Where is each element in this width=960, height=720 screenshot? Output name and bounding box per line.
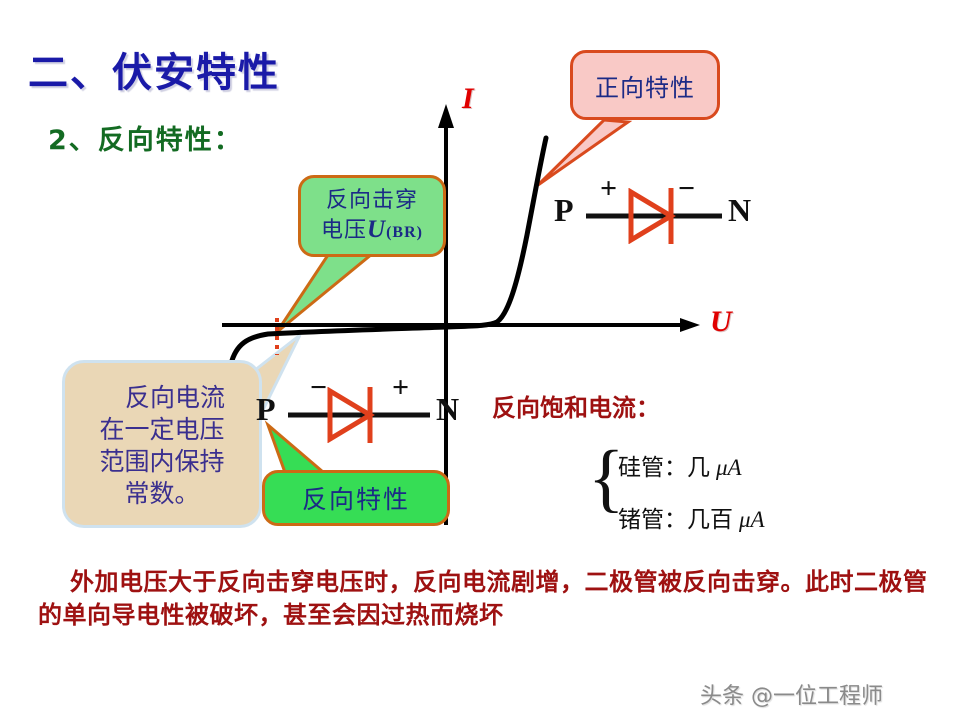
callout-breakdown-line1: 反向击穿: [326, 187, 418, 215]
callout-reverse-current-line-4: 常数。: [124, 478, 199, 510]
reverse-saturation-title: 反向饱和电流：: [492, 388, 660, 423]
axis-label-current: I: [462, 82, 474, 116]
callout-breakdown-voltage[interactable]: 反向击穿 电压U(BR): [298, 175, 446, 257]
diode-forward-cathode-label: N: [728, 192, 751, 229]
silicon-unit: μA: [710, 455, 742, 480]
callout-forward-characteristic[interactable]: 正向特性: [570, 50, 720, 120]
u-axis-arrow: [680, 318, 700, 332]
callout-reverse-current-line-2: 在一定电压: [99, 414, 224, 446]
callout-breakdown-subscript: (BR): [386, 224, 423, 241]
germanium-label: 锗管：几百: [618, 507, 733, 533]
callout-breakdown-symbol: U: [367, 216, 386, 243]
callout-tail-breakdown: [277, 252, 372, 332]
diode-forward-anode-label: P: [554, 192, 574, 229]
callout-reverse-current[interactable]: 反向电流 在一定电压 范围内保持 常数。: [62, 360, 262, 528]
watermark: 头条 @一位工程师: [700, 678, 883, 710]
diode-forward-glyph: [586, 188, 722, 244]
callout-reverse-characteristic-label: 反向特性: [302, 480, 410, 516]
callout-forward-label: 正向特性: [595, 68, 695, 103]
silicon-label: 硅管：几: [618, 455, 710, 481]
diode-reverse-cathode-label: N: [436, 391, 459, 428]
reverse-saturation-row-germanium: 锗管：几百μA: [618, 500, 765, 534]
reverse-saturation-row-silicon: 硅管：几μA: [618, 448, 742, 482]
axis-label-voltage: U: [710, 305, 732, 339]
diode-reverse-anode-label: P: [256, 391, 276, 428]
callout-breakdown-line2: 电压U(BR): [321, 214, 423, 245]
i-axis-arrow: [438, 104, 454, 128]
callout-breakdown-prefix: 电压: [321, 218, 367, 243]
callout-reverse-current-line-3: 范围内保持: [99, 446, 224, 478]
diode-reverse-glyph: [288, 387, 430, 443]
diode-symbol-forward-bias: + − P N: [578, 186, 738, 242]
bottom-note: 外加电压大于反向击穿电压时，反向电流剧增，二极管被反向击穿。此时二极管的单向导电…: [38, 566, 928, 632]
diode-symbol-reverse-bias: − + P N: [280, 385, 450, 441]
callout-reverse-characteristic[interactable]: 反向特性: [262, 470, 450, 526]
germanium-unit: μA: [733, 507, 765, 532]
callout-reverse-current-line-1: 反向电流: [99, 382, 225, 414]
page-title: 二、伏安特性: [28, 40, 280, 98]
section-subtitle: 2、反向特性：: [48, 118, 243, 157]
